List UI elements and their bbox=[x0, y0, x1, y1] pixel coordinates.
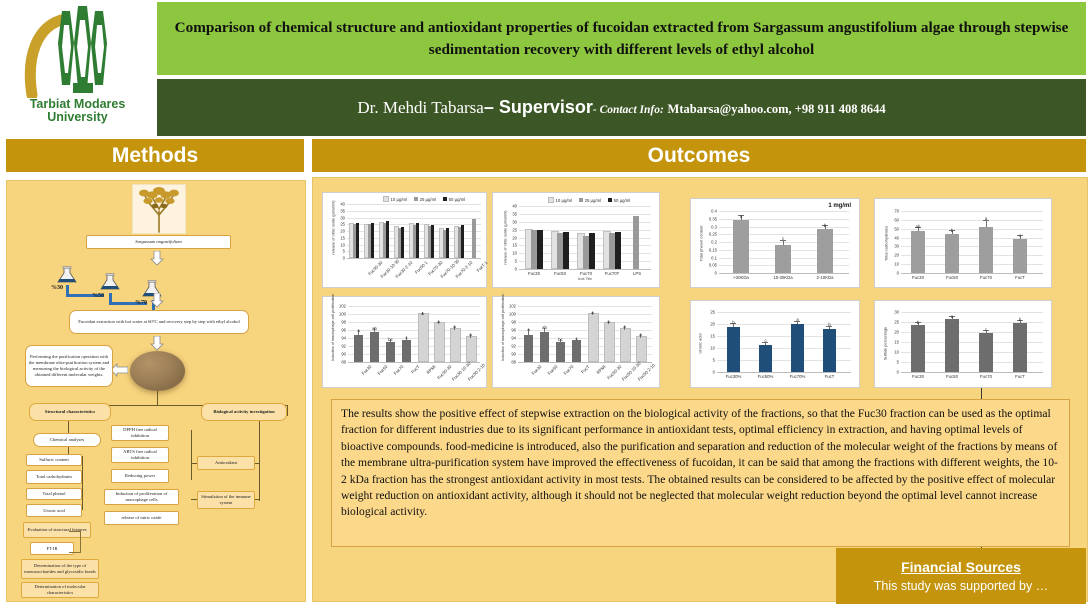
flow-box-chemical-analyses-label: Chemical analyses bbox=[50, 437, 84, 443]
flow-box-sulfuric-content: Sulfuric content bbox=[26, 454, 82, 466]
chart-nitric-oxide-fuc: 10 µg/ml 25 µg/ml 50 µg/ml release of ni… bbox=[493, 193, 659, 287]
chart-card-nitric-oxide-fuc: 10 µg/ml 25 µg/ml 50 µg/ml release of ni… bbox=[492, 192, 660, 288]
fucoidan-powder-image bbox=[130, 351, 185, 391]
chart-nitric-oxide-fractions: 10 µg/ml 25 µg/ml 50 µg/ml release of ni… bbox=[323, 193, 486, 287]
flow-arrow-2-icon bbox=[150, 293, 164, 309]
chart5-plot: 0 0.05 0.1 0.15 0.2 0.25 0.3 0.35 0.4 a … bbox=[719, 211, 849, 273]
university-logo: Tarbiat Modares University bbox=[0, 0, 155, 136]
chart3-plot: 88 90 92 94 96 98 100 102 a ab bc c bbox=[348, 306, 480, 362]
flow-line-antiox-join bbox=[191, 463, 197, 464]
flow-box-ft-ir-label: FT-IR bbox=[46, 546, 57, 552]
results-text: The results show the positive effect of … bbox=[341, 407, 1058, 518]
flask-30-label: %30 bbox=[51, 285, 63, 291]
chart7-plot: 0 5 10 15 20 25 b c a bbox=[717, 312, 851, 372]
chart1-legend-item-2: 50 µg/ml bbox=[443, 197, 465, 202]
logo-mark-icon bbox=[18, 3, 138, 98]
flow-box-purification: Performing the purification operation wi… bbox=[25, 345, 113, 387]
flow-bracket-evaluation bbox=[69, 531, 81, 553]
chart5-note: 1 mg/ml bbox=[828, 203, 851, 209]
flow-header-biological-label: Biological activity investigation bbox=[213, 409, 274, 415]
flow-box-uronic-acid-label: Uronic acid bbox=[43, 508, 65, 514]
flow-box-nitric-oxide-label: release of nitric oxide bbox=[122, 515, 162, 521]
chart-total-phenol-content: 1 mg/ml Total phenol content 0 0.05 0.1 … bbox=[691, 199, 859, 287]
flow-box-sulfuric-content-label: Sulfuric content bbox=[39, 457, 68, 463]
flow-box-purification-label: Performing the purification operation wi… bbox=[28, 354, 110, 378]
flow-arrow-3-icon bbox=[150, 336, 164, 352]
chart-card-uronic-acid: Uronic acid 0 5 10 15 20 25 b c bbox=[690, 300, 860, 388]
chart-macrophage-proliferation-1: Induction of macrophage cell proliferati… bbox=[323, 297, 486, 387]
flow-box-antioxidant-label: Antioxidant bbox=[215, 460, 237, 466]
flow-box-reducing-power-label: Reducing power bbox=[125, 473, 155, 479]
flow-box-abts: ABTS free radical inhibition bbox=[111, 447, 169, 463]
chart1-legend: 10 µg/ml 25 µg/ml 50 µg/ml bbox=[383, 196, 465, 202]
author-name: Dr. Mehdi Tabarsa bbox=[357, 98, 483, 117]
chart2-xaxis-name: Axis Title bbox=[578, 277, 592, 281]
chart-uronic-acid: Uronic acid 0 5 10 15 20 25 b c bbox=[691, 301, 859, 387]
flow-box-chemical-analyses: Chemical analyses bbox=[33, 433, 101, 447]
flask-50-label: %50 bbox=[92, 293, 104, 299]
chart8-ylabel: Sulfate percentage bbox=[883, 318, 888, 370]
page-title: Comparison of chemical structure and ant… bbox=[157, 17, 1086, 61]
flow-box-monosaccharides-label: Determination of the type of monosacchar… bbox=[24, 563, 96, 575]
chart-total-carbohydrates: Total carbohydrates 0 10 20 30 40 50 60 … bbox=[875, 199, 1051, 287]
flow-box-molecular-characteristics: Determination of molecular characteristi… bbox=[21, 582, 99, 598]
contact-label: - Contact Info: bbox=[593, 104, 664, 116]
flow-box-immune-system-label: Stimulation of the immune system bbox=[200, 494, 252, 506]
chart-card-nitric-oxide-fractions: 10 µg/ml 25 µg/ml 50 µg/ml release of ni… bbox=[322, 192, 487, 288]
flow-header-structural-label: Structural characteristics bbox=[45, 409, 95, 415]
flow-box-dpph: DPPH free radical inhibition bbox=[111, 425, 169, 441]
chart1-legend-item-0: 10 µg/ml bbox=[383, 196, 407, 202]
chart8-plot: 0 5 10 15 20 25 30 b a c bbox=[901, 312, 1043, 372]
methods-flowchart: Sargassum angustifolium %30 bbox=[7, 181, 305, 601]
flow-box-molecular-characteristics-label: Determination of molecular characteristi… bbox=[24, 584, 96, 596]
chart1-legend-item-1: 25 µg/ml bbox=[414, 197, 436, 202]
chart2-legend-item-0: 10 µg/ml bbox=[548, 197, 572, 203]
flow-trunk-vertical bbox=[157, 391, 158, 405]
flow-box-nitric-oxide: release of nitric oxide bbox=[104, 511, 179, 525]
flow-box-species: Sargassum angustifolium bbox=[86, 235, 231, 249]
chart-card-macrophage-1: Induction of macrophage cell proliferati… bbox=[322, 296, 487, 388]
flow-arrow-1-icon bbox=[150, 251, 164, 267]
poster-root: Tarbiat Modares University Comparison of… bbox=[0, 0, 1088, 604]
chart2-legend: 10 µg/ml 25 µg/ml 50 µg/ml bbox=[548, 197, 630, 203]
author-band: Dr. Mehdi Tabarsa– Supervisor- Contact I… bbox=[157, 79, 1086, 136]
flow-box-total-carbohydrates: Total carbohydrates bbox=[26, 470, 82, 484]
section-header-outcomes: Outcomes bbox=[312, 139, 1086, 172]
flow-line-antiox-group bbox=[191, 430, 192, 480]
flow-box-extraction: Fucoidan extraction with hot water at 60… bbox=[69, 310, 249, 334]
flow-header-structural: Structural characteristics bbox=[29, 403, 111, 421]
chart4-plot: 88 90 92 94 96 98 100 102 a ab bc c bbox=[518, 306, 652, 362]
logo-text: Tarbiat Modares University bbox=[30, 98, 126, 124]
flow-line-biological-right bbox=[259, 421, 260, 501]
flow-box-abts-label: ABTS free radical inhibition bbox=[114, 449, 166, 461]
poster-header: Tarbiat Modares University Comparison of… bbox=[0, 0, 1088, 136]
chart7-ylabel: Uronic acid bbox=[698, 321, 703, 367]
logo-line-2: University bbox=[30, 111, 126, 124]
flow-box-dpph-label: DPPH free radical inhibition bbox=[114, 427, 166, 439]
flow-box-total-phenol-label: Total phenol bbox=[42, 491, 65, 497]
chart-card-total-carbohydrates: Total carbohydrates 0 10 20 30 40 50 60 … bbox=[874, 198, 1052, 288]
flow-box-extraction-label: Fucoidan extraction with hot water at 60… bbox=[78, 319, 240, 325]
algae-photo bbox=[132, 184, 186, 234]
contact-value: Mtabarsa@yahoo.com, +98 911 408 8644 bbox=[668, 102, 886, 116]
results-text-box: The results show the positive effect of … bbox=[331, 399, 1070, 547]
flow-box-total-carbohydrates-label: Total carbohydrates bbox=[36, 474, 72, 480]
poster-title-band: Comparison of chemical structure and ant… bbox=[157, 2, 1086, 75]
flow-line-biological-immune bbox=[255, 499, 260, 500]
financial-sources-text: This study was supported by … bbox=[874, 579, 1048, 593]
flow-box-macrophage-proliferation: Induction of proliferation of macrophage… bbox=[104, 489, 179, 505]
chart-card-macrophage-2: Induction of macrophage cell proliferati… bbox=[492, 296, 660, 388]
chart2-legend-item-2: 50 µg/ml bbox=[608, 198, 630, 203]
author-role: – Supervisor bbox=[484, 97, 593, 117]
financial-sources-title: Financial Sources bbox=[901, 559, 1021, 575]
section-title-outcomes: Outcomes bbox=[648, 144, 751, 168]
chart1-plot: 0 5 10 15 20 25 30 35 40 bbox=[347, 204, 481, 258]
flow-box-reducing-power: Reducing power bbox=[111, 469, 169, 483]
flow-box-macrophage-proliferation-label: Induction of proliferation of macrophage… bbox=[107, 491, 176, 503]
methods-panel: Sargassum angustifolium %30 bbox=[6, 180, 306, 602]
flow-box-total-phenol: Total phenol bbox=[26, 488, 82, 500]
section-header-methods: Methods bbox=[6, 139, 304, 172]
flow-link-structural bbox=[68, 421, 69, 433]
flow-branch-right bbox=[287, 405, 288, 416]
flow-line-biological-antiox bbox=[255, 463, 260, 464]
chart6-plot: 0 10 20 30 40 50 60 70 ab b a bbox=[901, 211, 1043, 273]
flow-arrow-left-icon bbox=[111, 363, 128, 378]
flow-box-antioxidant: Antioxidant bbox=[197, 456, 255, 470]
chart-macrophage-proliferation-2: Induction of macrophage cell proliferati… bbox=[493, 297, 659, 387]
flow-header-biological: Biological activity investigation bbox=[201, 403, 287, 421]
chart2-legend-item-1: 25 µg/ml bbox=[579, 198, 601, 203]
section-title-methods: Methods bbox=[112, 144, 198, 168]
chart2-plot: 0 5 10 15 20 25 30 35 40 bbox=[519, 206, 651, 269]
flow-box-ft-ir: FT-IR bbox=[30, 542, 74, 555]
flow-box-species-label: Sargassum angustifolium bbox=[135, 239, 181, 245]
chart-card-total-phenol: 1 mg/ml Total phenol content 0 0.05 0.1 … bbox=[690, 198, 860, 288]
flask-70-label: %70 bbox=[135, 300, 147, 306]
flow-box-uronic-acid: Uronic acid bbox=[26, 504, 82, 517]
chart-sulfate-percentage: Sulfate percentage 0 5 10 15 20 25 30 b bbox=[875, 301, 1051, 387]
author-line: Dr. Mehdi Tabarsa– Supervisor- Contact I… bbox=[357, 97, 885, 118]
flow-box-immune-system: Stimulation of the immune system bbox=[197, 491, 255, 509]
chart-card-sulfate-percentage: Sulfate percentage 0 5 10 15 20 25 30 b bbox=[874, 300, 1052, 388]
flow-box-monosaccharides: Determination of the type of monosacchar… bbox=[21, 559, 99, 579]
financial-sources-box: Financial Sources This study was support… bbox=[836, 548, 1086, 604]
flow-line-immune-join bbox=[191, 499, 197, 500]
